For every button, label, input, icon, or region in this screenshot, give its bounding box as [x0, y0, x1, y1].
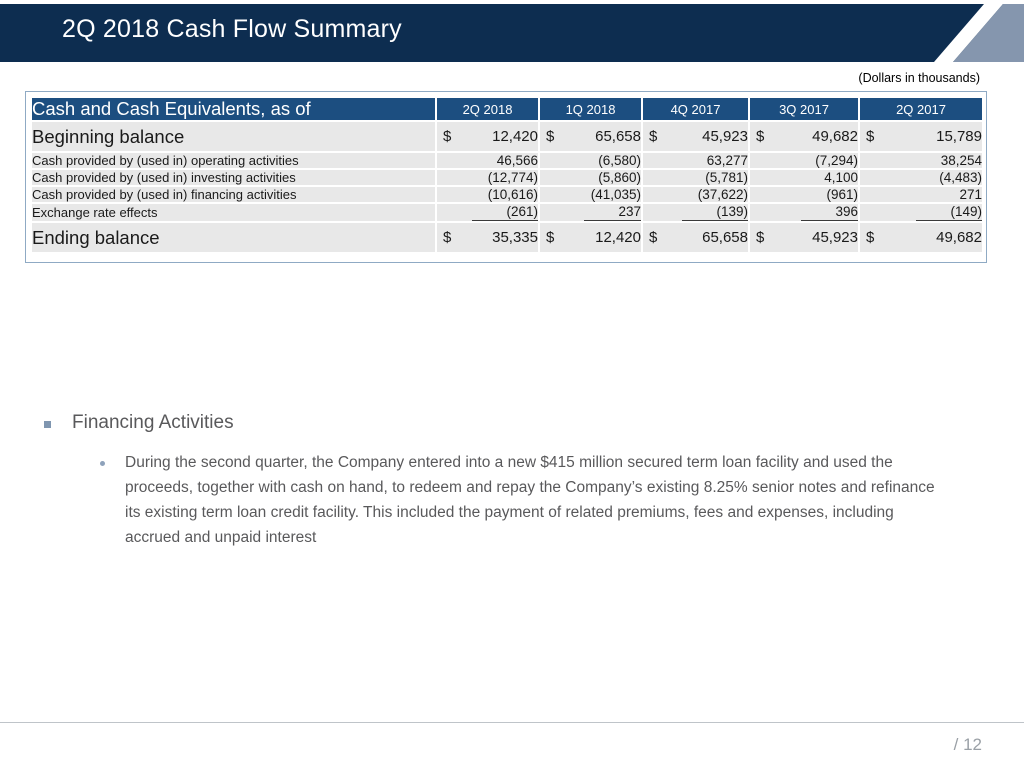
- table-column-header: 3Q 2017: [749, 98, 859, 121]
- table-row-label: Beginning balance: [32, 121, 436, 152]
- bullet-heading-label: Financing Activities: [72, 410, 234, 436]
- currency-symbol: $: [546, 229, 558, 246]
- table-cell: (7,294): [749, 152, 859, 169]
- cell-value: (261): [472, 204, 538, 221]
- currency-symbol: $: [443, 229, 455, 246]
- cell-value: (139): [682, 204, 748, 221]
- page-number: / 12: [954, 735, 982, 755]
- table-row-label: Exchange rate effects: [32, 203, 436, 222]
- table-column-header: 4Q 2017: [642, 98, 749, 121]
- table-cell: 4,100: [749, 169, 859, 186]
- table-cell: $12,420: [436, 121, 539, 152]
- currency-symbol: $: [866, 128, 878, 145]
- table-cell: (5,781): [642, 169, 749, 186]
- table-cell: $15,789: [859, 121, 982, 152]
- cell-value: (149): [916, 204, 982, 221]
- table-cell: $49,682: [859, 222, 982, 252]
- table-cell: 63,277: [642, 152, 749, 169]
- cell-value: 15,789: [936, 128, 982, 145]
- table-cell: (41,035): [539, 186, 642, 203]
- cell-value: 237: [584, 204, 641, 221]
- cell-value: 45,923: [812, 229, 858, 246]
- dot-bullet-icon: [100, 461, 105, 466]
- bullet-level2-detail: During the second quarter, the Company e…: [100, 450, 984, 550]
- page-title: 2Q 2018 Cash Flow Summary: [62, 0, 402, 58]
- table-column-header: 2Q 2018: [436, 98, 539, 121]
- table-row: Cash provided by (used in) investing act…: [32, 169, 982, 186]
- table-row: Exchange rate effects(261)237(139)396(14…: [32, 203, 982, 222]
- bullet-detail-text: During the second quarter, the Company e…: [125, 450, 949, 550]
- currency-symbol: $: [649, 229, 661, 246]
- table-cell: $45,923: [749, 222, 859, 252]
- table-cell: $35,335: [436, 222, 539, 252]
- table-row: Beginning balance$12,420$65,658$45,923$4…: [32, 121, 982, 152]
- commentary-block: Financing Activities During the second q…: [44, 410, 984, 550]
- table-cell: 237: [539, 203, 642, 222]
- table-row-label: Cash provided by (used in) investing act…: [32, 169, 436, 186]
- table-cell: 38,254: [859, 152, 982, 169]
- table-cell: (961): [749, 186, 859, 203]
- currency-symbol: $: [649, 128, 661, 145]
- table-cell: $65,658: [642, 222, 749, 252]
- table-cell: $49,682: [749, 121, 859, 152]
- cell-value: 12,420: [492, 128, 538, 145]
- table-cell: (37,622): [642, 186, 749, 203]
- table-column-header: 1Q 2018: [539, 98, 642, 121]
- currency-symbol: $: [546, 128, 558, 145]
- currency-symbol: $: [756, 229, 768, 246]
- table-cell: 396: [749, 203, 859, 222]
- table-column-header: 2Q 2017: [859, 98, 982, 121]
- cash-flow-table: Cash and Cash Equivalents, as of2Q 20181…: [32, 98, 982, 252]
- cell-value: 12,420: [595, 229, 641, 246]
- table-cell: (10,616): [436, 186, 539, 203]
- table-corner-header: Cash and Cash Equivalents, as of: [32, 98, 436, 121]
- cell-value: 65,658: [595, 128, 641, 145]
- cash-flow-table-frame: Cash and Cash Equivalents, as of2Q 20181…: [25, 91, 987, 263]
- table-cell: $65,658: [539, 121, 642, 152]
- cell-value: 49,682: [812, 128, 858, 145]
- table-cell: (12,774): [436, 169, 539, 186]
- table-header-row: Cash and Cash Equivalents, as of2Q 20181…: [32, 98, 982, 121]
- table-row-label: Ending balance: [32, 222, 436, 252]
- table-row: Cash provided by (used in) financing act…: [32, 186, 982, 203]
- table-cell: (6,580): [539, 152, 642, 169]
- table-row: Ending balance$35,335$12,420$65,658$45,9…: [32, 222, 982, 252]
- table-cell: (5,860): [539, 169, 642, 186]
- cell-value: 65,658: [702, 229, 748, 246]
- currency-symbol: $: [443, 128, 455, 145]
- table-cell: (261): [436, 203, 539, 222]
- table-row-label: Cash provided by (used in) financing act…: [32, 186, 436, 203]
- square-bullet-icon: [44, 421, 51, 428]
- currency-symbol: $: [756, 128, 768, 145]
- table-row: Cash provided by (used in) operating act…: [32, 152, 982, 169]
- table-cell: (149): [859, 203, 982, 222]
- currency-symbol: $: [866, 229, 878, 246]
- cell-value: 396: [801, 204, 858, 221]
- table-cell: 46,566: [436, 152, 539, 169]
- table-cell: (4,483): [859, 169, 982, 186]
- cell-value: 35,335: [492, 229, 538, 246]
- cash-flow-table-body: Cash and Cash Equivalents, as of2Q 20181…: [32, 98, 982, 252]
- table-cell: 271: [859, 186, 982, 203]
- cell-value: 49,682: [936, 229, 982, 246]
- bullet-level1-financing-activities: Financing Activities: [44, 410, 984, 436]
- footer-divider: [0, 722, 1024, 723]
- units-caption: (Dollars in thousands): [858, 71, 980, 85]
- cell-value: 45,923: [702, 128, 748, 145]
- table-cell: (139): [642, 203, 749, 222]
- table-cell: $12,420: [539, 222, 642, 252]
- table-cell: $45,923: [642, 121, 749, 152]
- table-row-label: Cash provided by (used in) operating act…: [32, 152, 436, 169]
